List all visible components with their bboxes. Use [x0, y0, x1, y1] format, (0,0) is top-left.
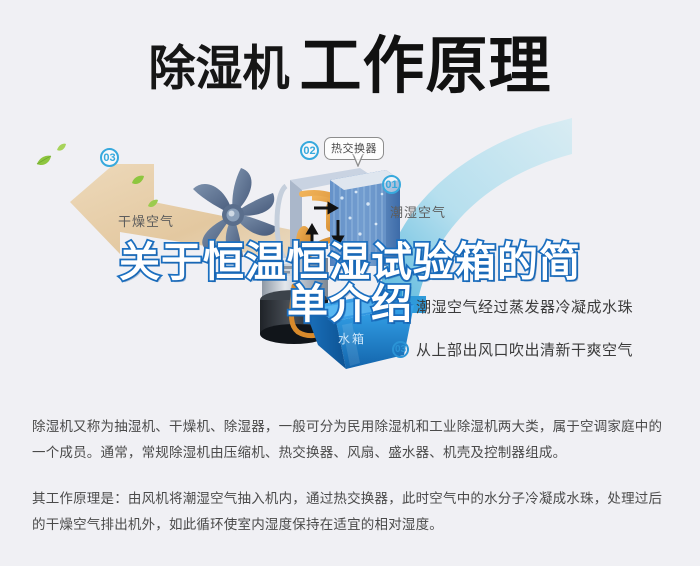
- step-text: 潮湿空气经过蒸发器冷凝成水珠: [416, 296, 633, 317]
- step-text: 从上部出风口吹出清新干爽空气: [416, 339, 633, 360]
- water-tank-label: 水箱: [338, 330, 366, 347]
- page-title: 除湿机 工作原理: [0, 22, 700, 112]
- leaf-icon: [36, 154, 52, 172]
- badge-heat-exchanger: 02: [300, 141, 319, 160]
- title-part-two: 工作原理: [299, 36, 551, 98]
- paragraph-one: 除湿机又称为抽湿机、干燥机、除湿器，一般可分为民用除湿机和工业除湿机两大类，属于…: [32, 414, 672, 466]
- step-badge: 03: [392, 341, 409, 358]
- step-item: 02 潮湿空气经过蒸发器冷凝成水珠: [392, 296, 692, 317]
- step-list: 02 潮湿空气经过蒸发器冷凝成水珠 03 从上部出风口吹出清新干爽空气: [392, 296, 692, 382]
- leaf-icon: [56, 139, 67, 157]
- callout-tail-icon: [352, 154, 364, 167]
- title-part-one: 除湿机: [148, 43, 289, 91]
- leaf-icon: [131, 173, 145, 191]
- badge-dry-air: 03: [100, 148, 119, 167]
- badge-humid-air: 01: [382, 175, 401, 194]
- label-humid-air: 潮湿空气: [390, 202, 446, 221]
- infographic-page: 除湿机 工作原理: [0, 0, 700, 566]
- paragraph-two: 其工作原理是：由风机将潮湿空气抽入机内，通过热交换器，此时空气中的水分子冷凝成水…: [32, 486, 672, 538]
- step-item: 03 从上部出风口吹出清新干爽空气: [392, 339, 692, 360]
- label-dry-air: 干燥空气: [118, 211, 174, 230]
- body-copy: 除湿机又称为抽湿机、干燥机、除湿器，一般可分为民用除湿机和工业除湿机两大类，属于…: [32, 414, 672, 558]
